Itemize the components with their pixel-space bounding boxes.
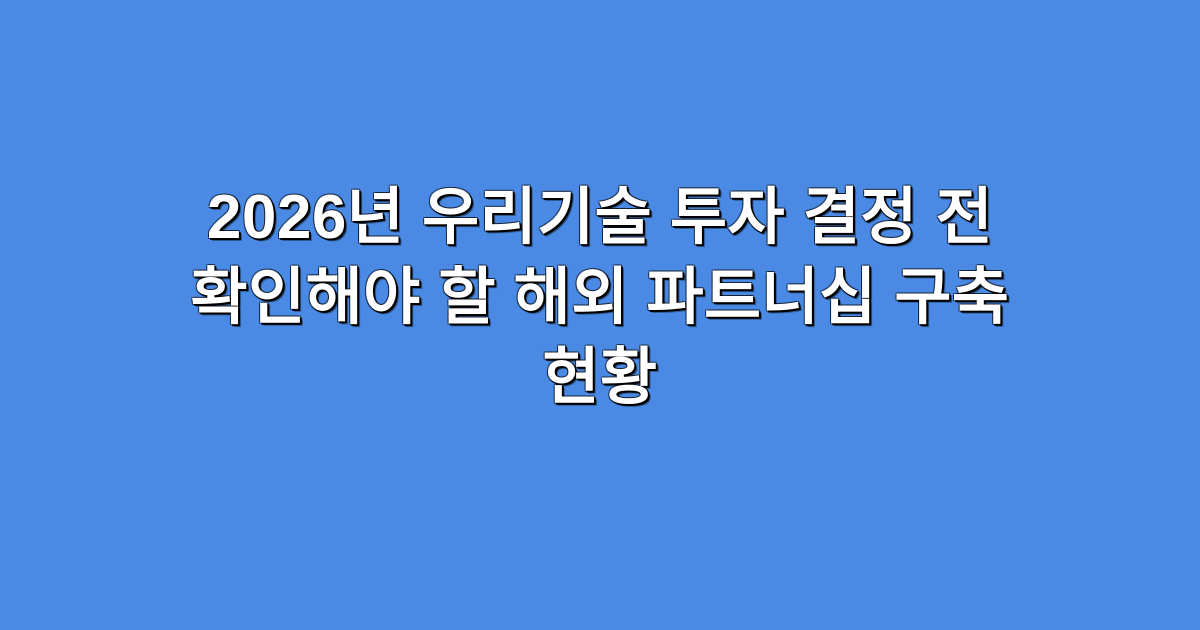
social-share-card: 2026년 우리기술 투자 결정 전 확인해야 할 해외 파트너십 구축 현황 <box>0 0 1200 630</box>
headline-line-3: 현황 <box>95 338 1105 418</box>
page-title: 2026년 우리기술 투자 결정 전 확인해야 할 해외 파트너십 구축 현황 <box>95 178 1105 418</box>
headline-line-2: 확인해야 할 해외 파트너십 구축 <box>95 258 1105 338</box>
headline-line-1: 2026년 우리기술 투자 결정 전 <box>95 178 1105 258</box>
